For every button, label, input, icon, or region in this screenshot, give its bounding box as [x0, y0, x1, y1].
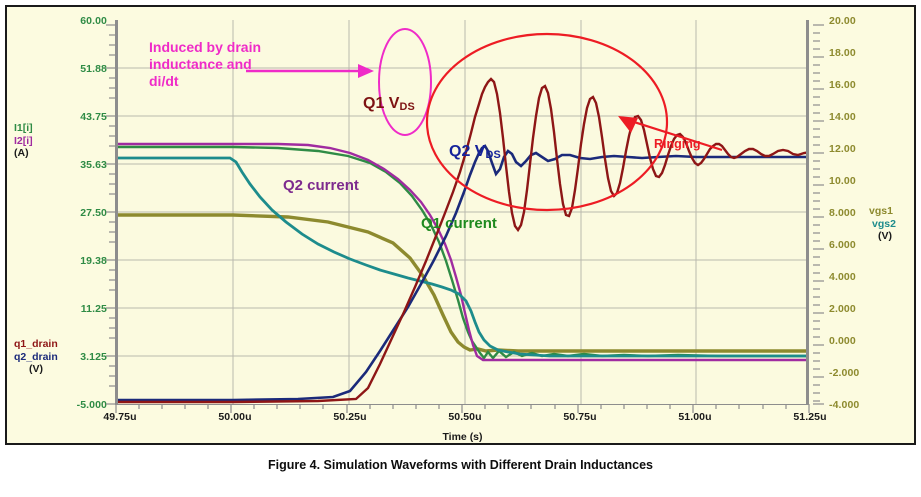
left-tick-label: 43.75	[35, 111, 107, 123]
annotation-q2-vds-main: Q2 V	[449, 143, 485, 160]
left-tick-label: 51.88	[35, 63, 107, 75]
left-axis-voltage-legend: q1_drain q2_drain (V)	[14, 338, 58, 376]
right-tick-label: 0.000	[829, 335, 856, 347]
legend-vgs2-label: vgs2	[872, 218, 896, 231]
series-vgs1	[118, 215, 806, 351]
legend-q2drain-label: q2_drain	[14, 351, 58, 364]
legend-vgs1-label: vgs1	[869, 205, 896, 218]
right-axis-minor-ticks	[810, 20, 826, 406]
legend-i2-label: I2[i]	[14, 135, 33, 148]
right-tick-label: 4.000	[829, 271, 856, 283]
legend-i1-label: I1[i]	[14, 122, 33, 135]
right-tick-label: 6.000	[829, 239, 856, 251]
legend-voltage-unit: (V)	[14, 363, 58, 376]
left-tick-label: 35.63	[35, 159, 107, 171]
right-tick-label: -2.000	[829, 367, 859, 379]
annotation-induced-by-drain-inductance: Induced by drain inductance and di/dt	[149, 39, 261, 90]
left-tick-label: -5.000	[35, 399, 107, 411]
right-tick-label: 2.000	[829, 303, 856, 315]
figure-root: 60.00 51.88 43.75 35.63 27.50 19.38 11.2…	[0, 0, 921, 497]
figure-caption: Figure 4. Simulation Waveforms with Diff…	[0, 458, 921, 472]
left-tick-label: 27.50	[35, 207, 107, 219]
annotation-q1-vds-main: Q1 V	[363, 95, 399, 112]
annotation-q1-current: Q1 current	[421, 215, 497, 232]
x-axis-minor-ticks	[115, 404, 812, 416]
right-tick-label: 12.00	[829, 143, 856, 155]
annotation-ringing: Ringing	[654, 136, 701, 153]
annotation-induced-line2: inductance and	[149, 56, 261, 73]
right-tick-label: 10.00	[829, 175, 856, 187]
right-tick-label: 8.000	[829, 207, 856, 219]
left-tick-label: 19.38	[35, 255, 107, 267]
annotation-induced-line3: di/dt	[149, 73, 261, 90]
annotation-q1-vds: Q1 VDS	[363, 95, 415, 116]
x-axis-title: Time (s)	[7, 431, 918, 443]
magenta-pointer-arrow-icon	[246, 60, 376, 82]
annotation-q2-current: Q2 current	[283, 177, 359, 194]
annotation-induced-line1: Induced by drain	[149, 39, 261, 56]
right-axis-legend: vgs1 vgs2 (V)	[869, 205, 896, 243]
left-axis-current-legend: I1[i] I2[i] (A)	[14, 122, 33, 160]
left-tick-label: 60.00	[35, 15, 107, 27]
annotation-q1-vds-sub: DS	[399, 101, 415, 113]
annotation-q2-vds-sub: DS	[485, 149, 501, 161]
left-tick-label: 11.25	[35, 303, 107, 315]
left-axis-minor-ticks	[103, 20, 117, 406]
right-tick-label: 18.00	[829, 47, 856, 59]
right-tick-label: 14.00	[829, 111, 856, 123]
right-tick-label: 16.00	[829, 79, 856, 91]
figure-frame: 60.00 51.88 43.75 35.63 27.50 19.38 11.2…	[5, 5, 916, 445]
legend-q1drain-label: q1_drain	[14, 338, 58, 351]
legend-current-unit: (A)	[14, 147, 33, 160]
right-tick-label: -4.000	[829, 399, 859, 411]
right-tick-label: 20.00	[829, 15, 856, 27]
legend-right-unit: (V)	[878, 230, 896, 243]
annotation-q2-vds: Q2 VDS	[449, 143, 501, 164]
